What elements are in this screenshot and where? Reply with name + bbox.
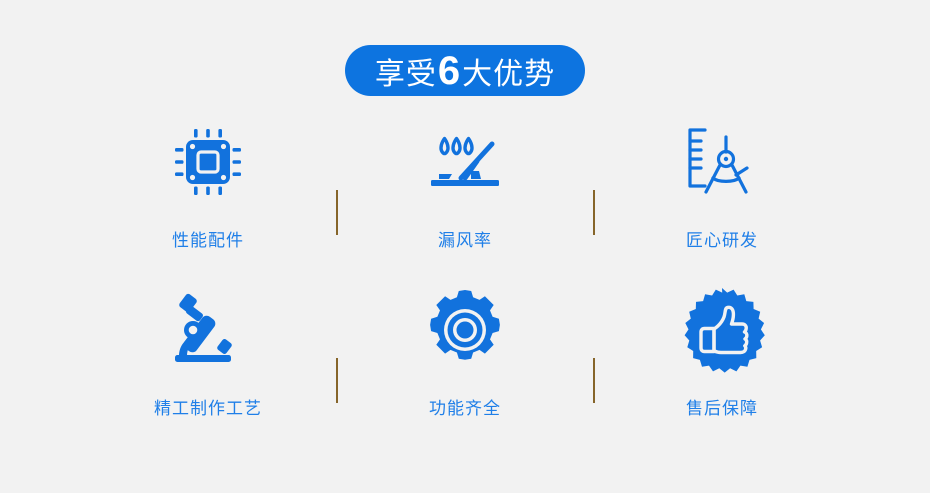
feature-label: 功能齐全 bbox=[429, 394, 501, 419]
water-repellent-icon bbox=[419, 112, 511, 212]
feature-label: 匠心研发 bbox=[686, 226, 758, 251]
feature-item-performance-parts[interactable]: 性能配件 bbox=[81, 112, 336, 251]
header-badge-text: 享受6大优势 bbox=[375, 51, 555, 91]
badge-text-after: 大优势 bbox=[462, 60, 555, 90]
feature-item-rnd[interactable]: 匠心研发 bbox=[595, 112, 850, 251]
feature-label: 漏风率 bbox=[438, 226, 492, 251]
feature-label: 性能配件 bbox=[172, 226, 244, 251]
feature-item-full-function[interactable]: 功能齐全 bbox=[338, 280, 593, 419]
badge-number: 6 bbox=[437, 51, 462, 91]
cpu-chip-icon bbox=[162, 112, 254, 212]
feature-label: 售后保障 bbox=[686, 394, 758, 419]
microscope-icon bbox=[162, 280, 254, 380]
badge-text-before: 享受 bbox=[375, 60, 437, 90]
header: 享受6大优势 bbox=[0, 45, 930, 96]
feature-label: 精工制作工艺 bbox=[154, 394, 262, 419]
compass-ruler-icon bbox=[676, 112, 768, 212]
feature-item-after-sales[interactable]: 售后保障 bbox=[595, 280, 850, 419]
feature-grid: 性能配件 bbox=[0, 112, 930, 448]
feature-row: 精工制作工艺 功能齐全 bbox=[0, 280, 930, 448]
thumbs-up-badge-icon bbox=[676, 280, 768, 380]
gear-icon bbox=[419, 280, 511, 380]
feature-row: 性能配件 bbox=[0, 112, 930, 280]
feature-item-craftsmanship[interactable]: 精工制作工艺 bbox=[81, 280, 336, 419]
feature-item-air-leakage[interactable]: 漏风率 bbox=[338, 112, 593, 251]
header-badge: 享受6大优势 bbox=[345, 45, 585, 96]
